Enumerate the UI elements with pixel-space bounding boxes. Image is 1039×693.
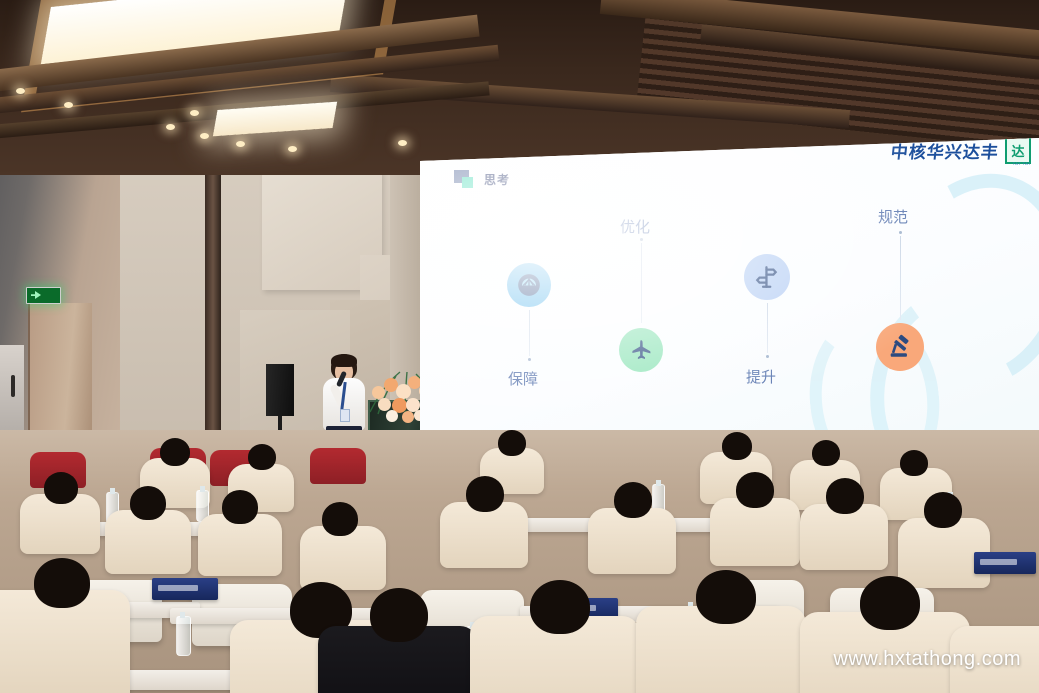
- projection-screen: 中核华兴达丰 达 TAT TAT 思考: [420, 138, 1039, 468]
- downlight-icon: [398, 140, 407, 146]
- site-watermark: www.hxtathong.com: [834, 648, 1021, 671]
- downlight-icon: [64, 102, 73, 108]
- downlight-icon: [16, 88, 25, 94]
- exit-sign-icon: [26, 287, 61, 304]
- downlight-icon: [190, 110, 199, 116]
- name-badge: [340, 409, 350, 422]
- loudspeaker: [266, 364, 294, 416]
- conference-photo: 中核华兴达丰 达 TAT TAT 思考: [0, 0, 1039, 693]
- downlight-icon: [200, 133, 209, 139]
- table-name-card: [974, 552, 1036, 574]
- downlight-icon: [288, 146, 297, 152]
- downlight-icon: [236, 141, 245, 147]
- door-handle: [11, 375, 15, 397]
- table-name-card: [152, 578, 218, 600]
- slide-surface: 中核华兴达丰 达 TAT TAT 思考: [420, 138, 1039, 468]
- downlight-icon: [166, 124, 175, 130]
